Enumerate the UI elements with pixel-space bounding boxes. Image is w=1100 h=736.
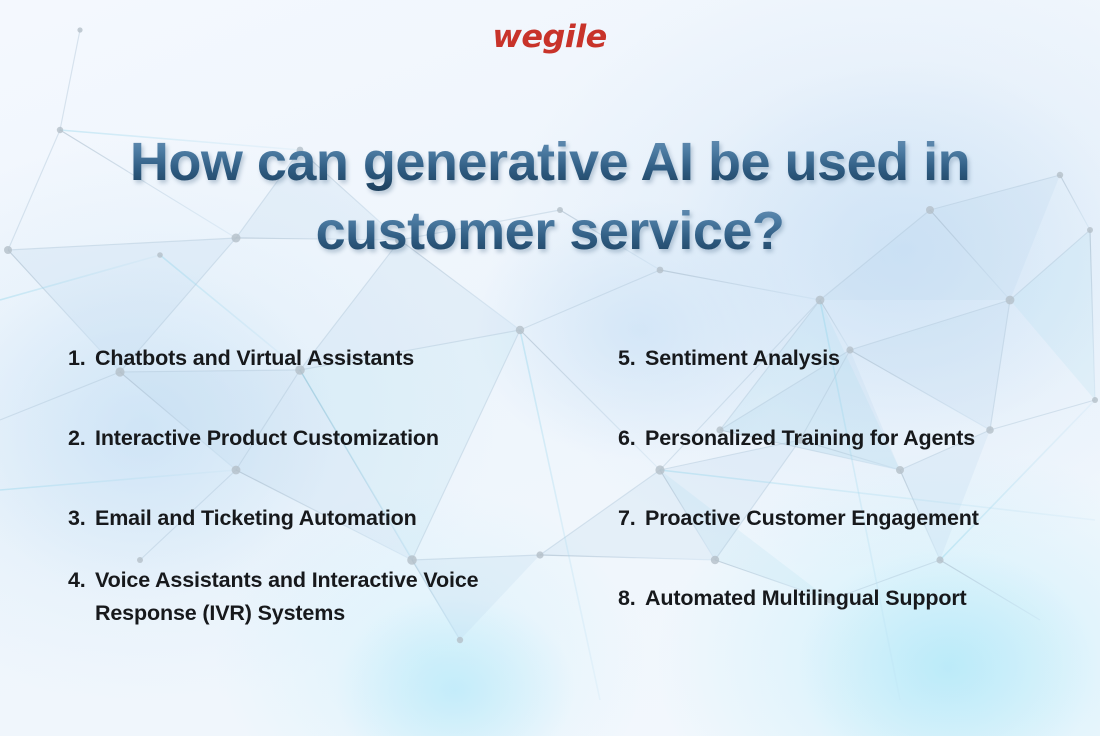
list-item-label: Email and Ticketing Automation (95, 502, 417, 535)
page-title-line-2: customer service? (316, 201, 785, 261)
list-item-number: 8. (618, 582, 645, 615)
wegile-logo-text: wegile (493, 22, 607, 53)
list-item: 8. Automated Multilingual Support (618, 582, 967, 615)
list-item: 3. Email and Ticketing Automation (68, 502, 417, 535)
list-item-label: Chatbots and Virtual Assistants (95, 342, 414, 375)
list-item-number: 2. (68, 422, 95, 455)
list-item: 4. Voice Assistants and Interactive Voic… (68, 564, 568, 631)
brand-logo: wegile (0, 22, 1100, 53)
page-title: How can generative AI be used in custome… (50, 128, 1050, 266)
list-item: 2. Interactive Product Customization (68, 422, 439, 455)
list-item-label: Automated Multilingual Support (645, 582, 967, 615)
list-item-label: Personalized Training for Agents (645, 422, 975, 455)
list-item-number: 5. (618, 342, 645, 375)
slide-canvas: wegile How can generative AI be used in … (0, 0, 1100, 736)
list-item: 1. Chatbots and Virtual Assistants (68, 342, 414, 375)
list-item-number: 1. (68, 342, 95, 375)
numbered-list-container: 1. Chatbots and Virtual Assistants 2. In… (0, 336, 1100, 636)
list-item-label: Interactive Product Customization (95, 422, 439, 455)
list-item-label: Proactive Customer Engagement (645, 502, 979, 535)
page-title-line-1: How can generative AI be used in (130, 132, 970, 192)
list-item-number: 7. (618, 502, 645, 535)
list-item-number: 3. (68, 502, 95, 535)
list-item-number: 4. (68, 564, 95, 597)
list-item-number: 6. (618, 422, 645, 455)
list-item-label: Voice Assistants and Interactive Voice R… (95, 564, 568, 631)
list-item-label: Sentiment Analysis (645, 342, 840, 375)
list-item: 6. Personalized Training for Agents (618, 422, 975, 455)
list-item: 7. Proactive Customer Engagement (618, 502, 979, 535)
list-item: 5. Sentiment Analysis (618, 342, 840, 375)
